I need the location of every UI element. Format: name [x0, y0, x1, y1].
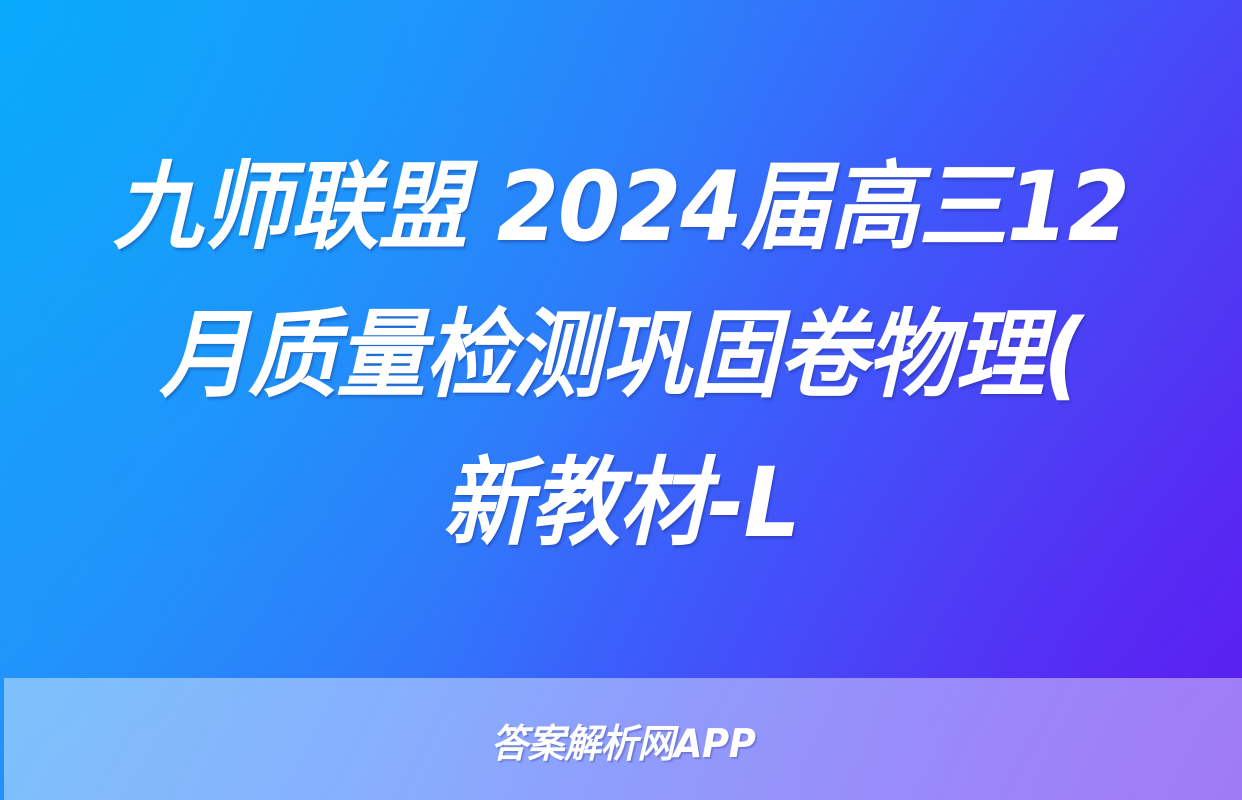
app-watermark-label: 答案解析网APP [491, 713, 755, 769]
paper-title-block: 九师联盟 2024届高三12 月质量检测巩固卷物理( 新教材-L [0, 0, 1242, 678]
paper-title-line-3: 新教材-L [442, 429, 799, 577]
exam-cover-banner: 九师联盟 2024届高三12 月质量检测巩固卷物理( 新教材-L 答案解析网AP… [0, 0, 1242, 800]
paper-title-line-1: 九师联盟 2024届高三12 [113, 133, 1129, 281]
watermark-band: 答案解析网APP [4, 678, 1242, 800]
paper-title-line-2: 月质量检测巩固卷物理( [159, 281, 1082, 429]
